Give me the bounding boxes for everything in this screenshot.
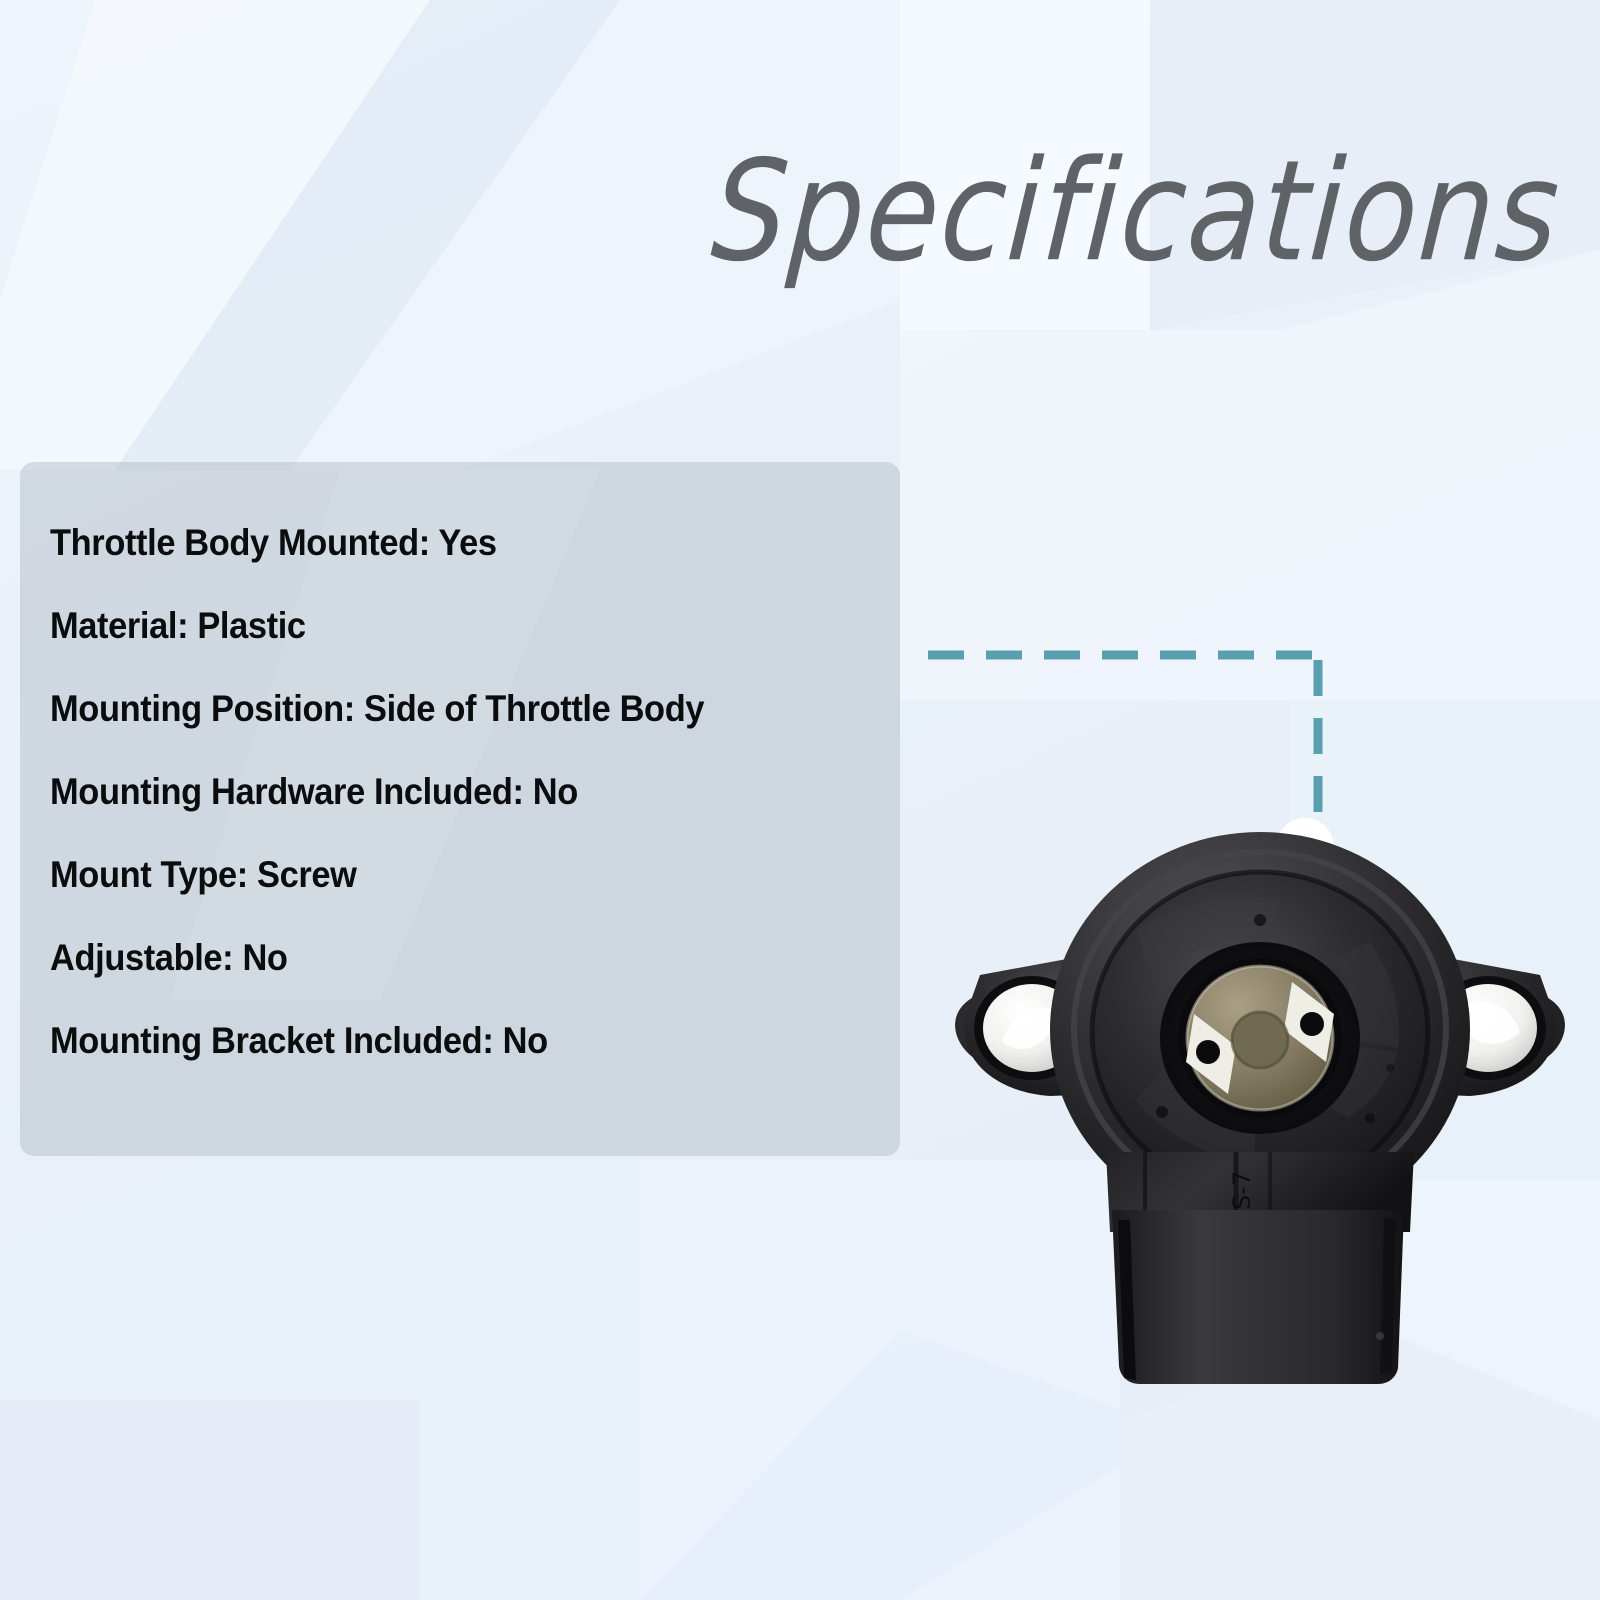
spec-row-adjustable: Adjustable: No [50,939,841,976]
product-image-throttle-position-sensor: S-7 [940,800,1580,1400]
page-title: Specifications [0,139,1565,285]
electrical-connector-plug [1112,1210,1404,1384]
specifications-panel: Throttle Body Mounted: Yes Material: Pla… [20,462,900,1156]
specifications-infographic: Specifications Throttle Body Mounted: Ye… [0,0,1600,1600]
spec-row-mount-type: Mount Type: Screw [50,856,841,893]
sensor-rotor-bore [1160,942,1360,1134]
spec-row-material: Material: Plastic [50,607,841,644]
sensor-body-marking: S-7 [1228,1171,1256,1210]
spec-row-mounting-bracket-included: Mounting Bracket Included: No [50,1022,841,1059]
spec-row-throttle-body-mounted: Throttle Body Mounted: Yes [50,524,841,561]
spec-row-mounting-position: Mounting Position: Side of Throttle Body [50,690,841,727]
spec-row-mounting-hardware-included: Mounting Hardware Included: No [50,773,841,810]
